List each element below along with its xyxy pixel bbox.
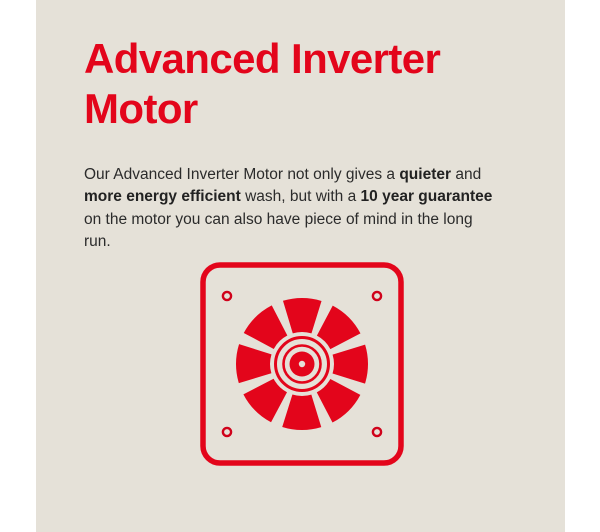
page-title-line-2: Motor [84, 85, 198, 132]
body-text-segment-1: Our Advanced Inverter Motor not only giv… [84, 166, 399, 183]
screw-ring-top-left [223, 292, 231, 300]
body-text-segment-4: on the motor you can also have piece of … [84, 211, 473, 251]
fan-rotor [253, 315, 351, 413]
body-bold-energy-efficient: more energy efficient [84, 188, 241, 205]
body-paragraph: Our Advanced Inverter Motor not only giv… [84, 164, 494, 254]
body-text-segment-2: and [451, 166, 481, 183]
inverter-motor-icon [200, 262, 404, 466]
body-text-segment-3: wash, but with a [241, 188, 361, 205]
hub-center-dot [299, 361, 305, 367]
body-bold-quieter: quieter [399, 166, 451, 183]
page-title: Advanced Inverter Motor [84, 34, 514, 134]
page-title-line-1: Advanced Inverter [84, 35, 440, 82]
screw-ring-bottom-right [373, 428, 381, 436]
content-panel: Advanced Inverter Motor Our Advanced Inv… [36, 0, 565, 532]
screw-ring-top-right [373, 292, 381, 300]
promo-card: Advanced Inverter Motor Our Advanced Inv… [0, 0, 600, 532]
body-bold-guarantee: 10 year guarantee [361, 188, 493, 205]
screw-ring-bottom-left [223, 428, 231, 436]
